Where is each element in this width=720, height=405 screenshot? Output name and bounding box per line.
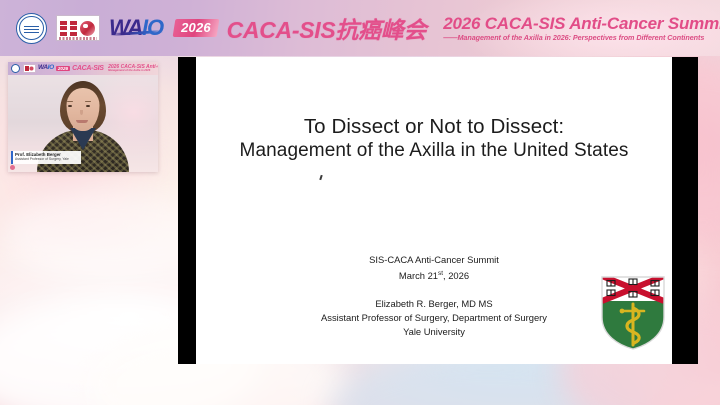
presenter-mouth	[76, 120, 88, 123]
waio-logo-part2: IO	[142, 15, 163, 40]
mini-english-subtitle: Management of the Axilla in 2026	[108, 70, 158, 73]
slide-date-prefix: March 21	[399, 270, 438, 281]
shared-slide-region[interactable]: To Dissect or Not to Dissect: Management…	[178, 57, 698, 364]
waio-logo: WAIO	[109, 17, 165, 39]
slide-title-line-2: Management of the Axilla in the United S…	[196, 139, 672, 163]
year-badge-label: 2026	[181, 20, 211, 35]
mouse-cursor-artifact	[319, 175, 322, 180]
slide-date-suffix: , 2026	[443, 270, 469, 281]
banner-english-subtitle: ——Management of the Axilla in 2026: Pers…	[443, 34, 720, 42]
mini-waio-logo: WAIO	[38, 65, 54, 72]
slide-canvas: To Dissect or Not to Dissect: Management…	[196, 57, 672, 364]
mini-english-block: 2026 CACA-SIS Anti-Cancer Summit Managem…	[108, 65, 158, 73]
banner-english-block: 2026 CACA-SIS Anti-Cancer Summit ——Manag…	[443, 15, 720, 41]
mini-year-badge: 2026	[56, 66, 69, 72]
microphone-icon	[10, 165, 15, 170]
mini-chinese-title: CACA-SIS	[72, 65, 103, 72]
yale-school-of-medicine-crest	[600, 275, 666, 351]
mini-caca-logo-icon	[11, 64, 20, 73]
slide-title: To Dissect or Not to Dissect: Management…	[196, 114, 672, 163]
waio-logo-part1: WA	[109, 15, 142, 40]
caca-seal-logo	[16, 13, 47, 44]
presenter-video-tile[interactable]: WAIO 2026 CACA-SIS 2026 CACA-SIS Anti-Ca…	[8, 62, 158, 172]
sis-logo	[56, 15, 100, 41]
slide-title-line-1: To Dissect or Not to Dissect:	[196, 114, 672, 139]
banner-chinese-title: CACA-SIS抗癌峰会	[227, 11, 427, 45]
screen-root: WAIO 2026 CACA-SIS抗癌峰会 2026 CACA-SIS Ant…	[0, 0, 720, 405]
video-mini-banner: WAIO 2026 CACA-SIS 2026 CACA-SIS Anti-Ca…	[8, 62, 158, 75]
event-banner: WAIO 2026 CACA-SIS抗癌峰会 2026 CACA-SIS Ant…	[0, 0, 720, 56]
year-badge: 2026	[172, 19, 219, 37]
presenter-role: Assistant Professor of Surgery, Yale	[15, 157, 79, 162]
mini-sis-logo-icon	[23, 64, 36, 73]
presenter-name-tag: Prof. Elizabeth Berger Assistant Profess…	[11, 151, 81, 164]
presenter-nose	[80, 110, 83, 115]
banner-english-title: 2026 CACA-SIS Anti-Cancer Summit	[443, 15, 720, 33]
slide-event-name: SIS-CACA Anti-Cancer Summit	[196, 253, 672, 267]
